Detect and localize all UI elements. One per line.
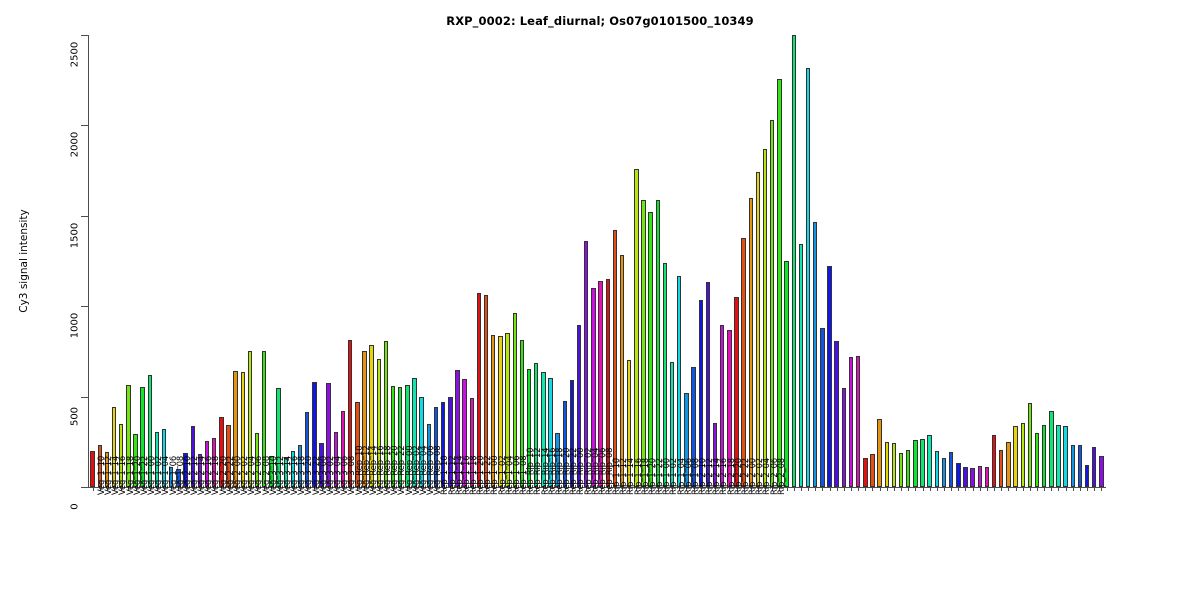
x-tick-mark [915,487,916,491]
bar[interactable] [820,328,824,487]
x-tick-mark [880,487,881,491]
y-tick-label: 1000 [70,306,81,346]
x-tick-mark [1101,487,1102,491]
bar[interactable] [985,467,989,487]
x-tick-mark [837,487,838,491]
bar[interactable] [1042,425,1046,487]
x-tick-mark [1030,487,1031,491]
x-tick-mark [851,487,852,491]
bar[interactable] [870,454,874,487]
x-tick-mark [1016,487,1017,491]
x-tick-mark [923,487,924,491]
y-tick-label: 0 [70,487,81,527]
x-tick-mark [844,487,845,491]
y-tick-label: 1500 [70,215,81,255]
bar[interactable] [749,198,753,487]
bar[interactable] [741,238,745,487]
x-tick-mark [994,487,995,491]
x-tick-mark [894,487,895,491]
plot-area [89,35,1105,487]
bar[interactable] [799,244,803,487]
x-tick-mark [1066,487,1067,491]
y-tick-label: 500 [70,396,81,436]
x-tick-mark [1008,487,1009,491]
bar[interactable] [899,453,903,487]
x-tick-mark [1058,487,1059,491]
bar[interactable] [777,79,781,487]
x-tick-mark [1080,487,1081,491]
bar[interactable] [906,450,910,487]
x-tick-mark [858,487,859,491]
x-tick-mark [973,487,974,491]
x-tick-mark [801,487,802,491]
bar[interactable] [1071,445,1075,487]
bar[interactable] [1021,423,1025,487]
bar[interactable] [913,440,917,487]
x-tick-mark [937,487,938,491]
bar[interactable] [784,261,788,487]
chart-title: RXP_0002: Leaf_diurnal; Os07g0101500_103… [0,14,1200,28]
x-tick-label: Rip_2_08 [776,458,786,495]
bar[interactable] [999,450,1003,487]
bar[interactable] [656,200,660,487]
bar[interactable] [648,212,652,487]
bar[interactable] [856,356,860,487]
x-tick-mark [830,487,831,491]
bar[interactable] [1028,403,1032,487]
bar[interactable] [1035,433,1039,487]
bar[interactable] [813,222,817,487]
bar[interactable] [963,467,967,487]
bar[interactable] [620,255,624,487]
bar[interactable] [834,341,838,487]
x-tick-mark [1094,487,1095,491]
bar[interactable] [756,172,760,487]
x-tick-mark [901,487,902,491]
x-tick-mark [865,487,866,491]
y-tick-mark [81,306,88,307]
x-tick-mark [887,487,888,491]
x-tick-mark [987,487,988,491]
bar[interactable] [677,276,681,487]
bar[interactable] [1013,426,1017,487]
bar[interactable] [1049,411,1053,487]
y-tick-mark [81,216,88,217]
bar[interactable] [877,419,881,487]
bar[interactable] [806,68,810,487]
bar[interactable] [1078,445,1082,487]
bar[interactable] [1006,442,1010,487]
bar[interactable] [1056,425,1060,487]
x-tick-mark [822,487,823,491]
bar[interactable] [827,266,831,487]
bar[interactable] [849,357,853,487]
x-tick-mark [872,487,873,491]
x-tick-mark [980,487,981,491]
x-tick-mark [1001,487,1002,491]
bar[interactable] [885,442,889,487]
y-tick-mark [81,35,88,36]
x-tick-mark [808,487,809,491]
x-tick-mark [1023,487,1024,491]
y-tick-label: 2500 [70,35,81,75]
x-tick-mark [93,487,94,491]
chart-canvas: RXP_0002: Leaf_diurnal; Os07g0101500_103… [0,0,1200,600]
x-tick-mark [1073,487,1074,491]
bar[interactable] [1063,426,1067,487]
bar[interactable] [763,149,767,487]
bar[interactable] [920,439,924,487]
bar[interactable] [634,169,638,487]
x-tick-mark [787,487,788,491]
x-tick-mark [1087,487,1088,491]
bar[interactable] [970,468,974,487]
bar[interactable] [1085,465,1089,487]
bar[interactable] [641,200,645,487]
x-tick-mark [1044,487,1045,491]
bar[interactable] [663,263,667,487]
x-tick-mark [794,487,795,491]
y-tick-mark [81,125,88,126]
bar[interactable] [1092,447,1096,487]
bar[interactable] [992,435,996,487]
bar[interactable] [863,458,867,487]
x-tick-mark [951,487,952,491]
bar[interactable] [1099,456,1103,487]
x-tick-mark [965,487,966,491]
y-axis-label: Cy3 signal intensity [18,141,30,381]
bar[interactable] [942,458,946,487]
bar[interactable] [842,388,846,487]
bar[interactable] [706,282,710,487]
x-tick-mark [908,487,909,491]
bar[interactable] [949,452,953,487]
bar[interactable] [792,35,796,487]
bar[interactable] [978,466,982,487]
bar[interactable] [770,120,774,487]
bar[interactable] [927,435,931,487]
bar[interactable] [956,463,960,487]
x-tick-mark [815,487,816,491]
x-tick-mark [944,487,945,491]
x-tick-mark [1051,487,1052,491]
y-tick-mark [81,397,88,398]
bar[interactable] [90,451,94,487]
y-tick-mark [81,487,88,488]
y-tick-label: 2000 [70,125,81,165]
bar[interactable] [892,443,896,487]
x-tick-mark [930,487,931,491]
x-tick-mark [958,487,959,491]
bar[interactable] [935,451,939,487]
x-tick-mark [1037,487,1038,491]
